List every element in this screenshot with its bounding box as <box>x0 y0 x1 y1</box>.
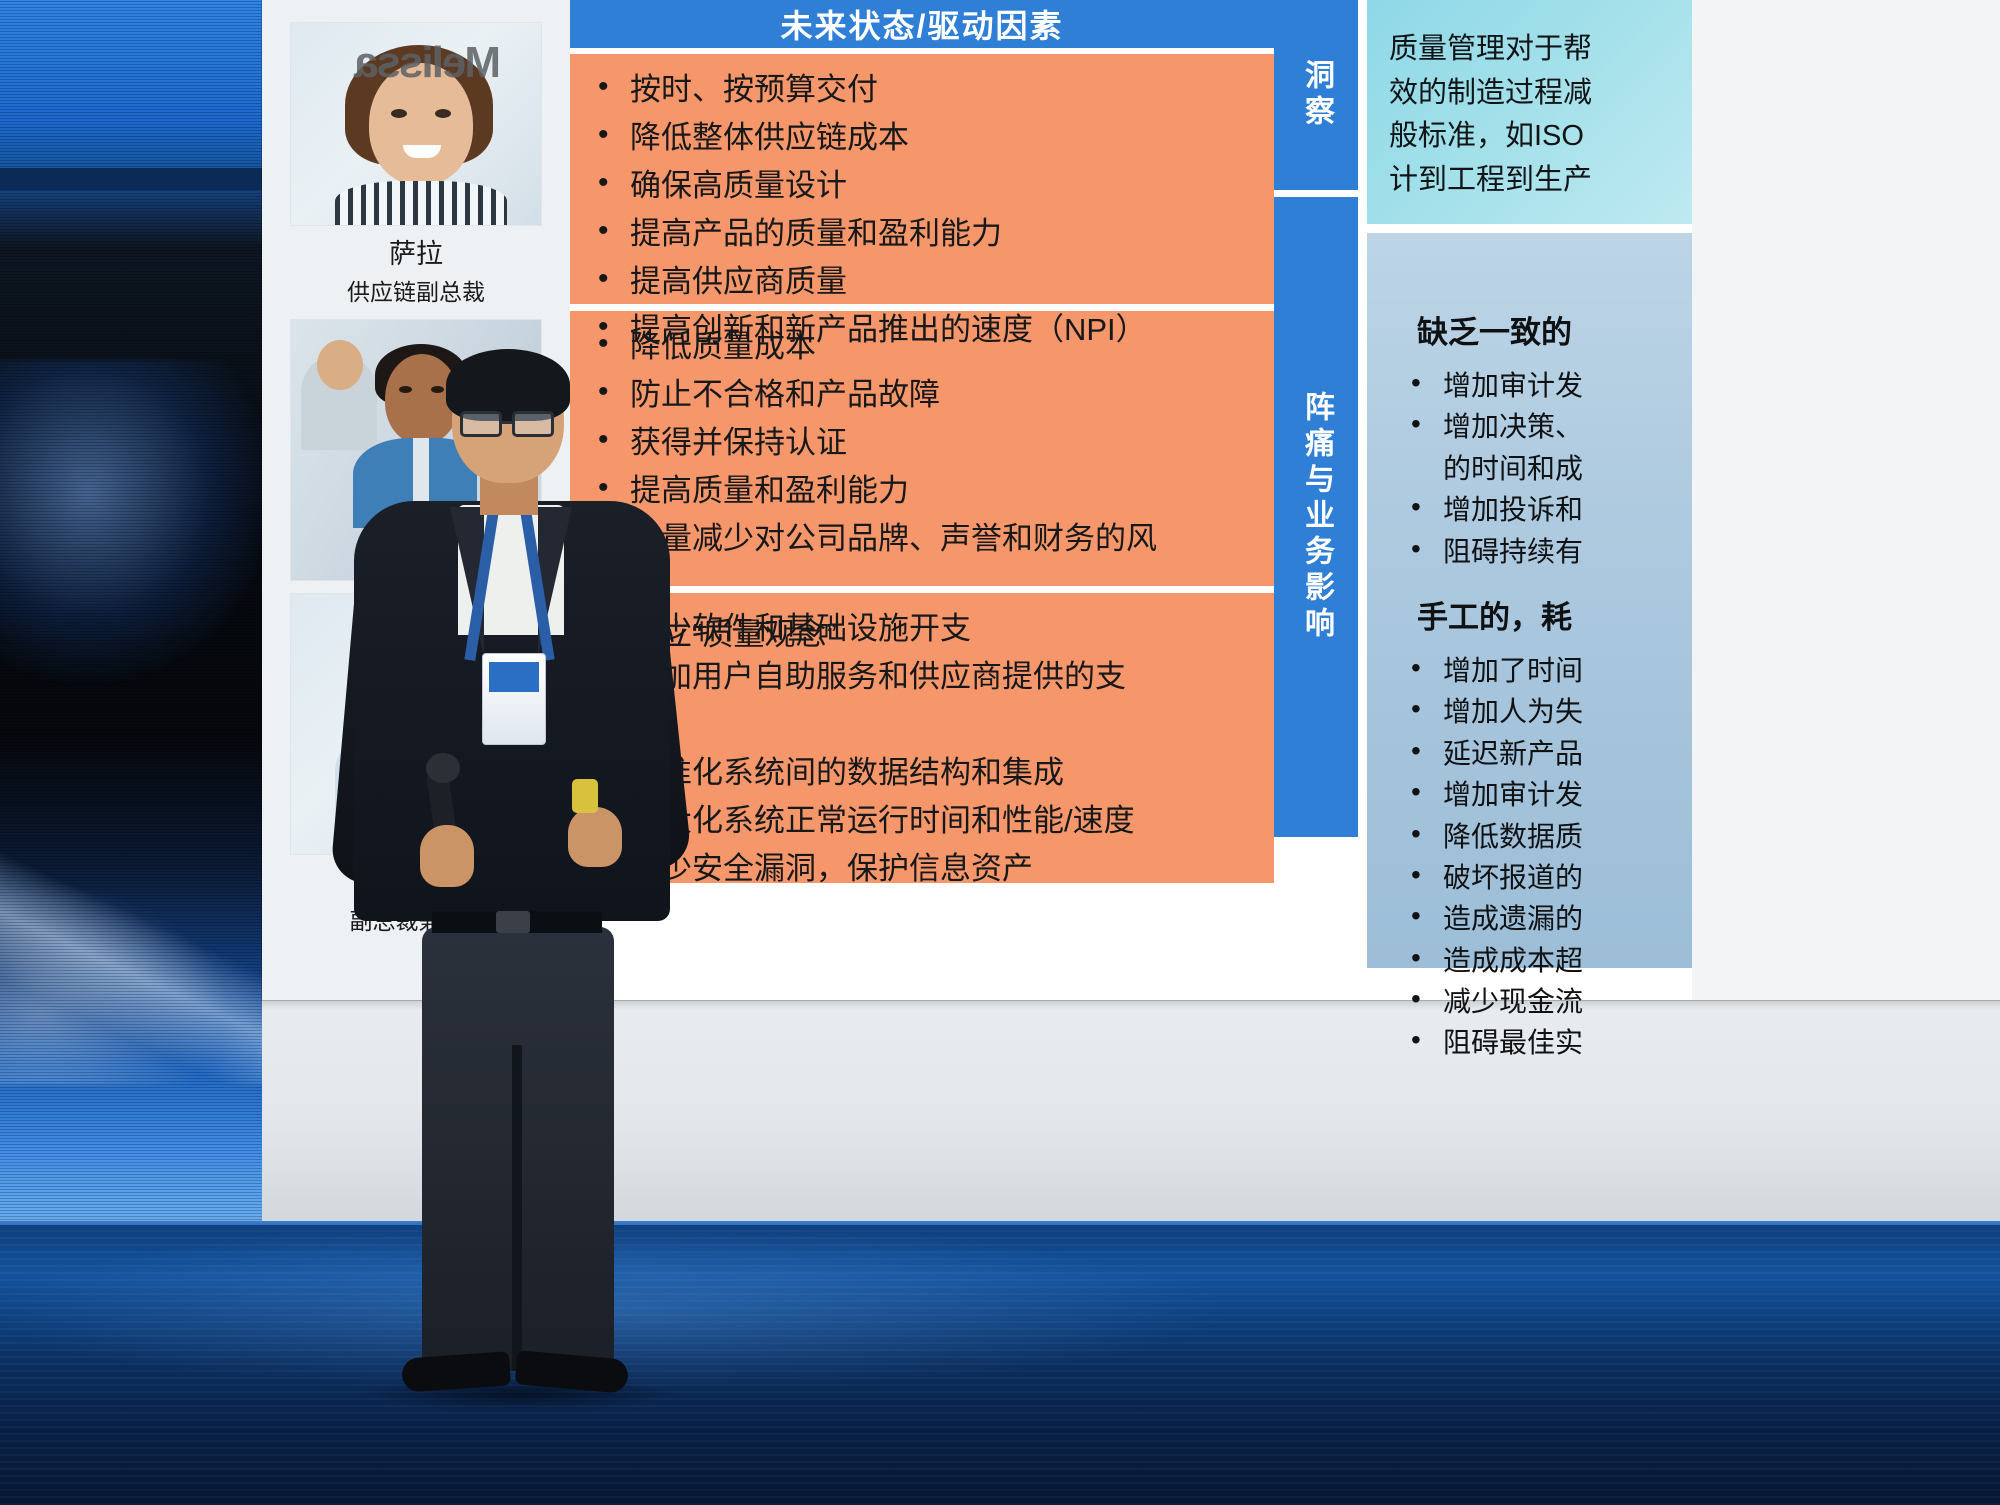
led-wall-ribbon-graphic <box>0 845 280 1085</box>
conference-stage-photo: P6 3 Melissa 萨拉 <box>0 0 2000 1505</box>
insight-line: 效的制造过程减 <box>1389 72 1692 116</box>
insight-line: 计到工程到生产 <box>1389 159 1692 203</box>
vertical-label-insight: 洞察 <box>1274 0 1358 190</box>
presenter-badge <box>482 653 546 745</box>
vertical-label-text: 洞察 <box>1294 59 1338 131</box>
bullet-list: 增加了时间 增加人为失 延迟新产品 增加审计发 降低数据质 破坏报道的 造成遗漏… <box>1395 653 1692 1062</box>
stage-floor <box>0 1225 2000 1505</box>
presenter-figure <box>300 355 720 1155</box>
bullet-list: 增加审计发 增加决策、 的时间和成 增加投诉和 阻碍持续有 <box>1395 368 1692 570</box>
microphone-head <box>426 753 460 783</box>
list-item: 阻碍持续有 <box>1395 534 1692 570</box>
presenter-leg-gap <box>512 1045 522 1371</box>
list-item: 增加审计发 <box>1395 368 1692 404</box>
pain-points-box: 缺乏一致的 增加审计发 增加决策、 的时间和成 增加投诉和 阻碍持续有 手工的，… <box>1367 233 1692 968</box>
glasses-lens-right-icon <box>512 411 554 437</box>
presentation-clicker <box>572 779 598 813</box>
vertical-label-column: 洞察 阵痛与业务影响 <box>1274 0 1358 1000</box>
pain-section-heading: 手工的，耗 <box>1417 592 1692 637</box>
list-item: 增加人为失 <box>1395 694 1692 730</box>
list-item: 造成遗漏的 <box>1395 901 1692 937</box>
list-item: 增加投诉和 <box>1395 492 1692 528</box>
presenter-hand-left <box>420 825 474 887</box>
list-item: 提高供应商质量 <box>584 260 1258 304</box>
list-item: 降低数据质 <box>1395 819 1692 855</box>
presenter-hand-right <box>568 807 622 867</box>
list-item: 增加审计发 <box>1395 777 1692 813</box>
list-item: 确保高质量设计 <box>584 164 1258 208</box>
portrait-eye-left <box>391 109 407 118</box>
list-item: 增加了时间 <box>1395 653 1692 689</box>
led-wall-left <box>0 0 262 1235</box>
ghost-text-overlay: Melissa <box>356 38 501 88</box>
persona-name: 萨拉 <box>290 232 542 271</box>
list-item: 造成成本超 <box>1395 943 1692 979</box>
portrait-striped-shirt <box>335 181 507 226</box>
list-item: 增加决策、 <box>1395 409 1692 445</box>
list-item: 降低整体供应链成本 <box>584 116 1258 160</box>
list-item: 按时、按预算交付 <box>584 68 1258 112</box>
pain-section-heading: 缺乏一致的 <box>1417 307 1692 352</box>
list-item: 减少现金流 <box>1395 984 1692 1020</box>
bullet-list: 按时、按预算交付 降低整体供应链成本 确保高质量设计 提高产品的质量和盈利能力 … <box>584 68 1258 352</box>
list-item-continuation: 的时间和成 <box>1395 451 1692 487</box>
floor-reflection <box>0 1225 2000 1505</box>
list-item: 阻碍最佳实 <box>1395 1025 1692 1061</box>
glasses-bridge <box>502 421 514 424</box>
list-item: 延迟新产品 <box>1395 736 1692 772</box>
list-item: 提高产品的质量和盈利能力 <box>584 212 1258 256</box>
vertical-label-pain-impact: 阵痛与业务影响 <box>1274 197 1358 837</box>
insight-column: 质量管理对于帮 效的制造过程减 般标准，如ISO 计到工程到生产 缺乏一致的 增… <box>1359 0 1692 1000</box>
insight-paragraph-box: 质量管理对于帮 效的制造过程减 般标准，如ISO 计到工程到生产 <box>1367 0 1692 224</box>
persona-role: 供应链副总裁 <box>290 273 542 307</box>
glasses-lens-left-icon <box>460 411 502 437</box>
column-header-future-state: 未来状态/驱动因素 <box>570 0 1274 48</box>
persona-card: Melissa 萨拉 供应链副总裁 <box>290 22 542 307</box>
presenter-belt-buckle <box>496 911 530 933</box>
badge-header-bar <box>489 662 539 692</box>
list-item: 破坏报道的 <box>1395 860 1692 896</box>
orange-block-1: 按时、按预算交付 降低整体供应链成本 确保高质量设计 提高产品的质量和盈利能力 … <box>570 54 1274 304</box>
vertical-label-text: 阵痛与业务影响 <box>1294 391 1338 643</box>
insight-line: 质量管理对于帮 <box>1389 28 1692 72</box>
insight-line: 般标准，如ISO <box>1389 115 1692 159</box>
portrait-eye-right <box>435 109 451 118</box>
led-wall-graphic <box>0 360 280 690</box>
